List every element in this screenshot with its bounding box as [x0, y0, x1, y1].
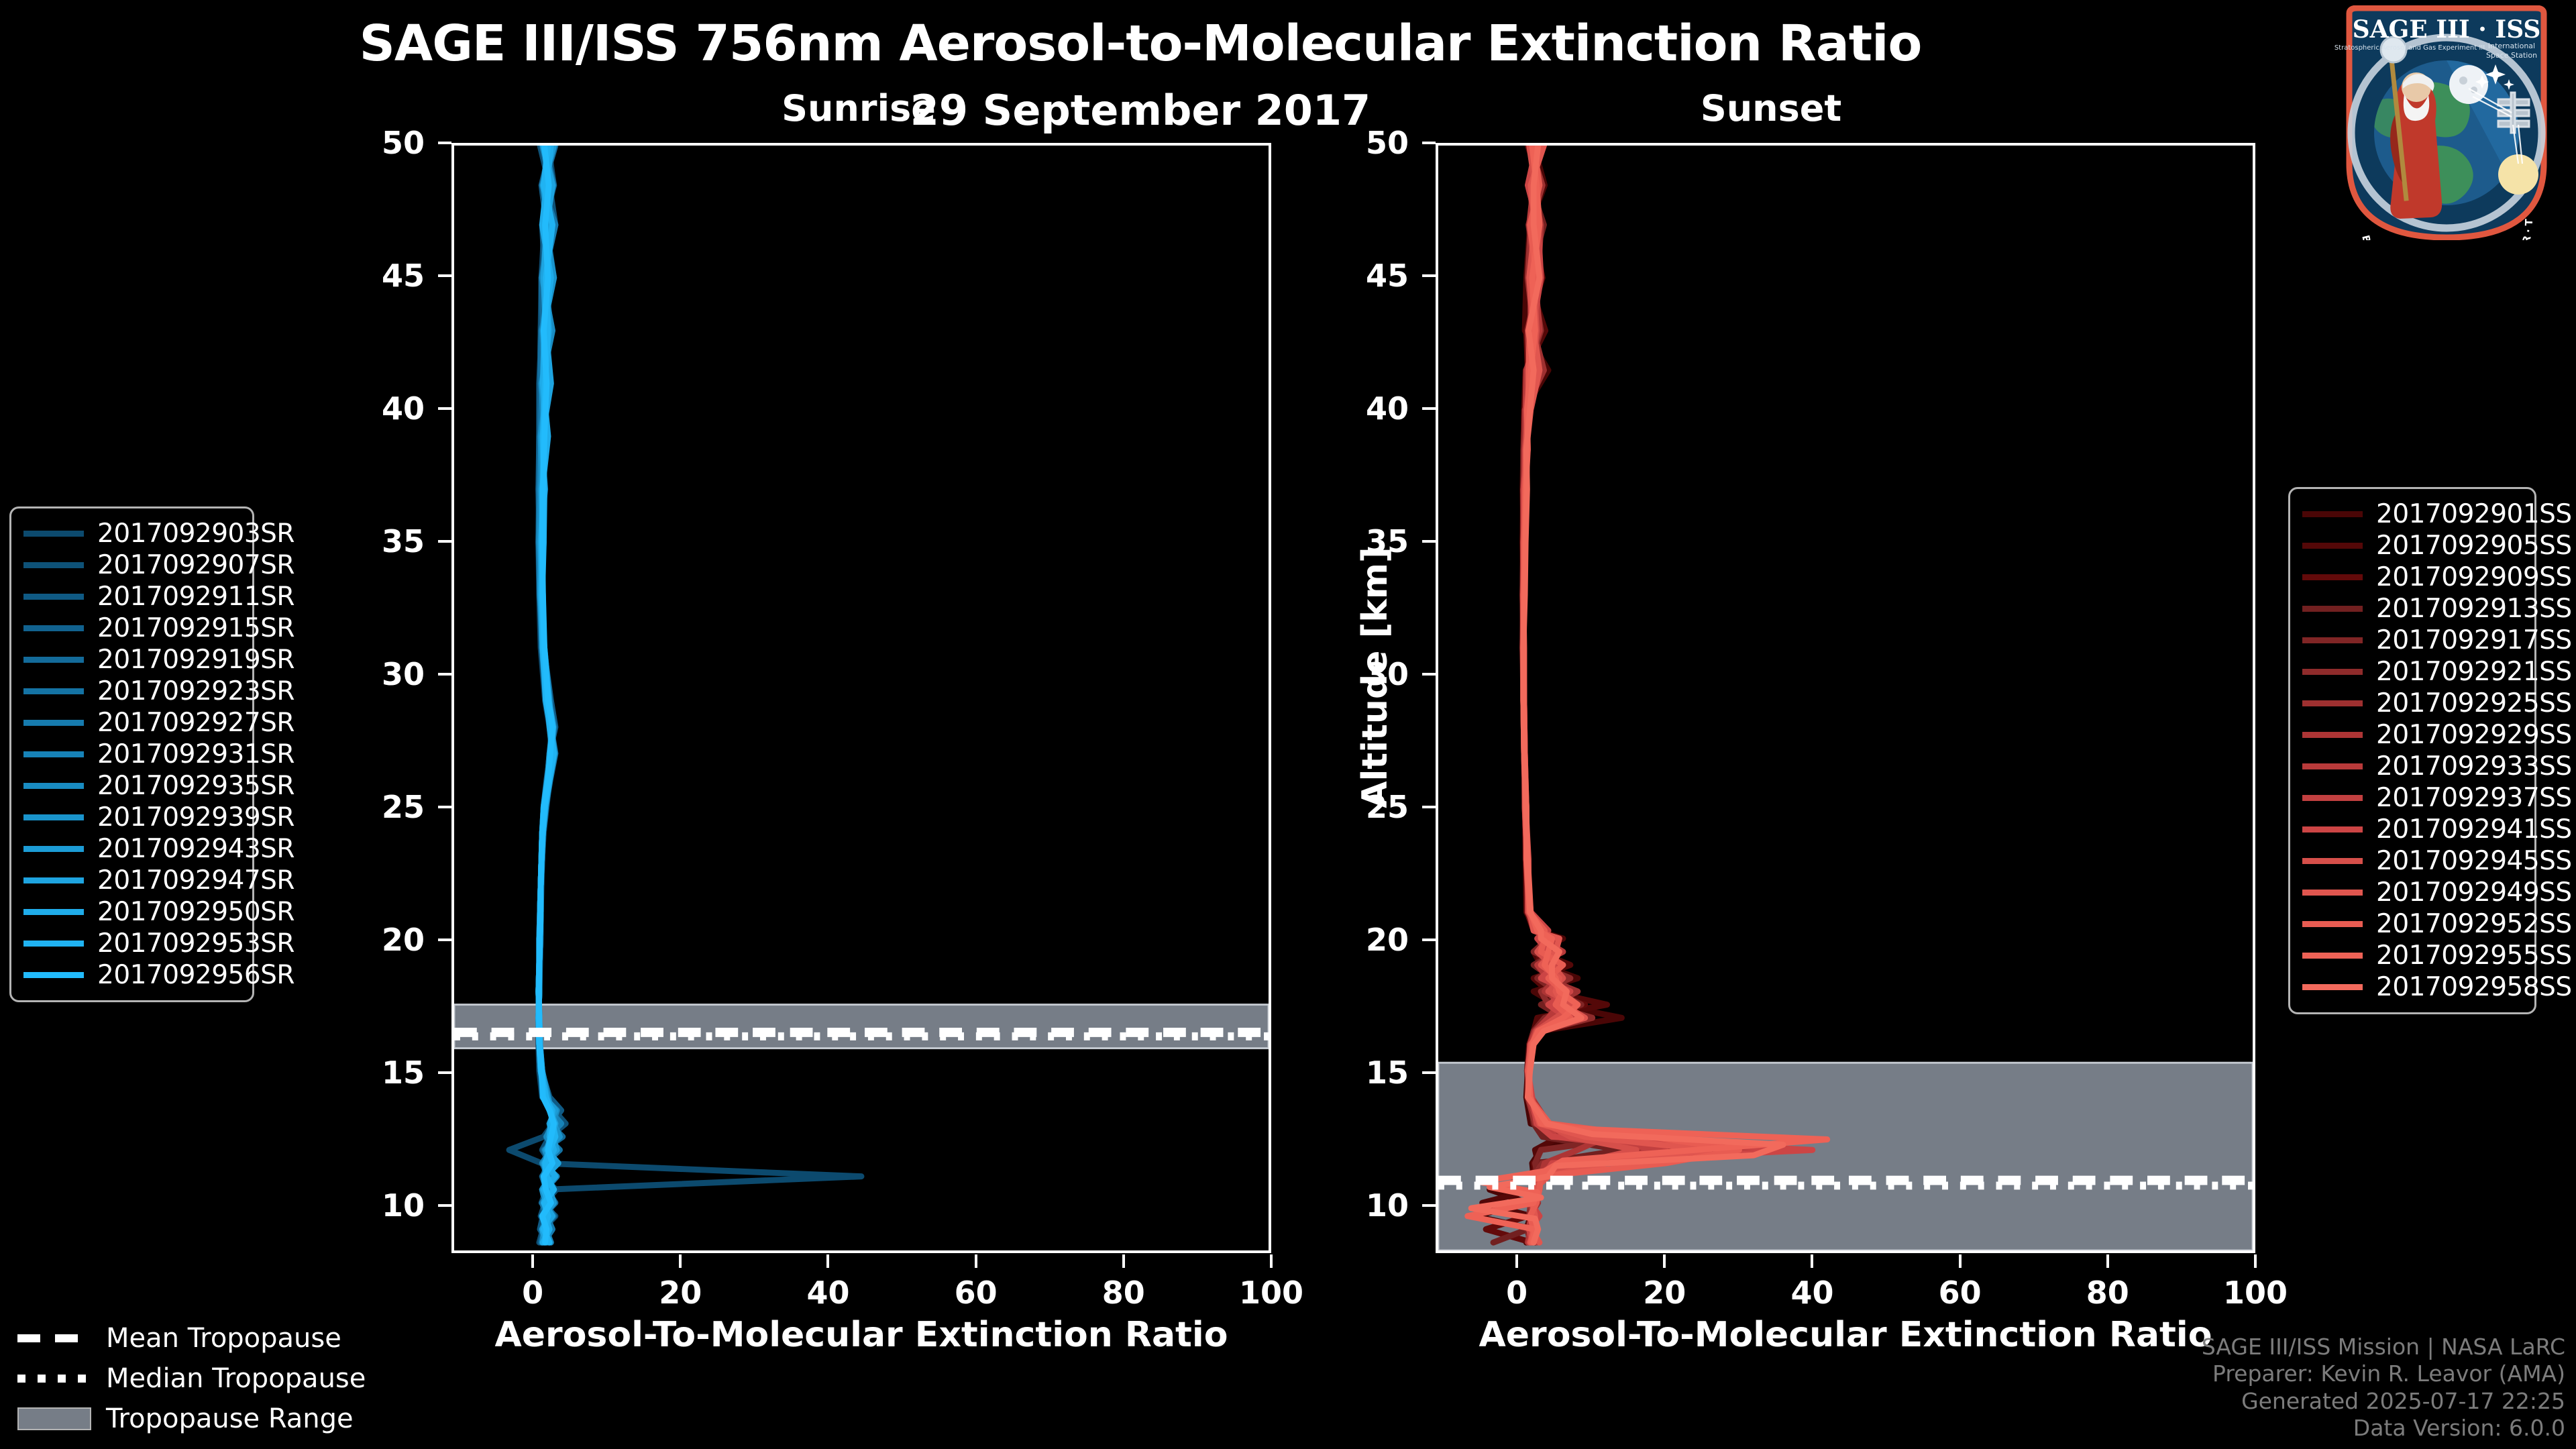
y-tick-mark — [1422, 274, 1436, 277]
legend-color-swatch — [23, 720, 84, 726]
credits-generated: Generated 2025-07-17 22:25 — [2202, 1388, 2565, 1415]
legend-item[interactable]: 2017092952SS — [2302, 908, 2522, 940]
legend-color-swatch — [2302, 984, 2363, 990]
legend-color-swatch — [23, 972, 84, 978]
mean-tropopause-label: Mean Tropopause — [106, 1323, 341, 1354]
x-tick-label: 20 — [1643, 1275, 1686, 1311]
legend-item[interactable]: 2017092917SS — [2302, 625, 2522, 656]
x-tick-label: 40 — [1790, 1275, 1833, 1311]
legend-item-label: 2017092929SS — [2376, 720, 2572, 750]
x-tick-label: 80 — [1102, 1275, 1145, 1311]
legend-item-label: 2017092950SR — [97, 897, 294, 927]
x-tick-mark — [975, 1254, 977, 1268]
legend-color-swatch — [23, 783, 84, 789]
legend-item[interactable]: 2017092913SS — [2302, 593, 2522, 625]
x-tick-label: 20 — [659, 1275, 702, 1311]
legend-item-label: 2017092947SR — [97, 865, 294, 896]
x-tick-mark — [1270, 1254, 1273, 1268]
legend-item[interactable]: 2017092943SR — [23, 833, 240, 865]
legend-item-label: 2017092907SR — [97, 550, 294, 580]
y-tick-label: 50 — [1315, 125, 1409, 161]
y-tick-mark — [1422, 1204, 1436, 1207]
credits-block: SAGE III/ISS Mission | NASA LaRC Prepare… — [2202, 1334, 2565, 1442]
legend-item[interactable]: 2017092929SS — [2302, 719, 2522, 751]
legend-color-swatch — [2302, 669, 2363, 675]
tropopause-range-label: Tropopause Range — [106, 1403, 354, 1434]
y-tick-label: 10 — [1315, 1187, 1409, 1224]
x-tick-mark — [2106, 1254, 2109, 1268]
legend-item-label: 2017092945SS — [2376, 846, 2572, 876]
legend-color-swatch — [23, 877, 84, 883]
dashed-line-icon — [17, 1330, 91, 1347]
y-tick-mark — [1422, 540, 1436, 543]
legend-color-swatch — [2302, 890, 2363, 896]
legend-color-swatch — [23, 909, 84, 915]
sage-iii-iss-mission-patch-logo: SAGE III · ISS Stratospheric Aerosol and… — [2329, 5, 2564, 240]
legend-item[interactable]: 2017092935SR — [23, 770, 240, 802]
legend-item[interactable]: 2017092949SS — [2302, 877, 2522, 908]
x-tick-mark — [1515, 1254, 1518, 1268]
x-tick-label: 60 — [1939, 1275, 1982, 1311]
legend-item-label: 2017092935SR — [97, 771, 294, 801]
legend-color-swatch — [2302, 921, 2363, 927]
y-tick-mark — [438, 142, 451, 144]
x-tick-mark — [531, 1254, 534, 1268]
y-tick-mark — [1422, 407, 1436, 410]
legend-color-swatch — [2302, 574, 2363, 580]
y-tick-label: 10 — [331, 1187, 425, 1224]
y-tick-mark — [438, 274, 451, 277]
legend-item[interactable]: 2017092933SS — [2302, 751, 2522, 782]
legend-sunset: 2017092901SS2017092905SS2017092909SS2017… — [2288, 487, 2536, 1014]
legend-item[interactable]: 2017092956SR — [23, 959, 240, 991]
legend-item[interactable]: 2017092903SR — [23, 518, 240, 549]
legend-item-label: 2017092943SR — [97, 834, 294, 864]
y-tick-mark — [438, 1204, 451, 1207]
legend-sunrise: 2017092903SR2017092907SR2017092911SR2017… — [9, 506, 254, 1002]
legend-item-label: 2017092939SR — [97, 802, 294, 833]
patch-subtitle-right-line2: Space Station — [2486, 51, 2537, 60]
y-tick-mark — [1422, 673, 1436, 676]
legend-color-swatch — [23, 657, 84, 663]
legend-item[interactable]: 2017092937SS — [2302, 782, 2522, 814]
y-tick-label: 40 — [1315, 390, 1409, 427]
legend-item-label: 2017092903SR — [97, 519, 294, 549]
x-axis-title-sunrise: Aerosol-To-Molecular Extinction Ratio — [451, 1315, 1271, 1355]
sunset-plot-canvas — [1438, 146, 2253, 1250]
plot-sunrise — [451, 143, 1271, 1253]
legend-item[interactable]: 2017092927SR — [23, 707, 240, 739]
x-tick-mark — [1663, 1254, 1666, 1268]
legend-item-label: 2017092901SS — [2376, 499, 2572, 529]
legend-item[interactable]: 2017092955SS — [2302, 940, 2522, 971]
legend-item-label: 2017092911SR — [97, 582, 294, 612]
y-tick-mark — [438, 540, 451, 543]
y-axis-title-sunset: Altitude [km] — [1355, 510, 1395, 845]
legend-item-label: 2017092905SS — [2376, 531, 2572, 561]
x-tick-label: 100 — [2223, 1275, 2288, 1311]
y-tick-mark — [1422, 938, 1436, 941]
x-tick-mark — [2254, 1254, 2257, 1268]
tropopause-range-band — [454, 1005, 1269, 1049]
legend-item-label: 2017092931SR — [97, 739, 294, 769]
patch-subtitle-right-line1: International — [2488, 42, 2535, 50]
legend-item-label: 2017092921SS — [2376, 657, 2572, 687]
legend-item-mean-tropopause: Mean Tropopause — [17, 1318, 366, 1358]
legend-item-label: 2017092937SS — [2376, 783, 2572, 813]
credits-mission: SAGE III/ISS Mission | NASA LaRC — [2202, 1334, 2565, 1361]
legend-color-swatch — [23, 846, 84, 852]
legend-item-label: 2017092933SS — [2376, 751, 2572, 782]
tropopause-legend: Mean Tropopause Median Tropopause Tropop… — [17, 1318, 366, 1439]
sunrise-plot-canvas — [454, 146, 1269, 1250]
legend-item-label: 2017092913SS — [2376, 594, 2572, 624]
y-tick-label: 15 — [1315, 1055, 1409, 1091]
legend-color-swatch — [2302, 858, 2363, 864]
legend-item[interactable]: 2017092919SR — [23, 644, 240, 676]
y-tick-mark — [438, 1071, 451, 1074]
legend-color-swatch — [2302, 543, 2363, 549]
legend-item-label: 2017092915SR — [97, 613, 294, 643]
legend-color-swatch — [23, 625, 84, 631]
dotted-line-icon — [17, 1370, 91, 1387]
shaded-patch-icon — [17, 1410, 91, 1428]
y-tick-mark — [1422, 142, 1436, 144]
legend-color-swatch — [2302, 637, 2363, 643]
x-tick-mark — [1811, 1254, 1813, 1268]
legend-color-swatch — [2302, 700, 2363, 706]
y-tick-mark — [438, 673, 451, 676]
panel-title-sunrise: Sunrise — [671, 87, 1046, 129]
x-tick-label: 0 — [522, 1275, 543, 1311]
legend-color-swatch — [2302, 732, 2363, 738]
x-tick-label: 40 — [806, 1275, 849, 1311]
legend-color-swatch — [23, 688, 84, 694]
credits-preparer: Preparer: Kevin R. Leavor (AMA) — [2202, 1360, 2565, 1388]
legend-item[interactable]: 2017092921SS — [2302, 656, 2522, 688]
patch-subtitle-left: Stratospheric Aerosol and Gas Experiment… — [2334, 44, 2485, 52]
legend-item-label: 2017092925SS — [2376, 688, 2572, 718]
legend-item[interactable]: 2017092950SR — [23, 896, 240, 928]
legend-color-swatch — [2302, 953, 2363, 959]
legend-item[interactable]: 2017092941SS — [2302, 814, 2522, 845]
legend-color-swatch — [23, 594, 84, 600]
legend-item[interactable]: 2017092909SS — [2302, 561, 2522, 593]
legend-item-label: 2017092927SR — [97, 708, 294, 738]
legend-color-swatch — [23, 814, 84, 820]
x-tick-mark — [1122, 1254, 1125, 1268]
credits-data-version: Data Version: 6.0.0 — [2202, 1415, 2565, 1442]
legend-item-label: 2017092941SS — [2376, 814, 2572, 845]
x-tick-mark — [826, 1254, 829, 1268]
legend-color-swatch — [23, 941, 84, 947]
x-tick-label: 60 — [955, 1275, 998, 1311]
x-tick-label: 80 — [2086, 1275, 2129, 1311]
y-tick-label: 20 — [331, 922, 425, 958]
legend-color-swatch — [23, 531, 84, 537]
legend-item[interactable]: 2017092907SR — [23, 549, 240, 581]
legend-color-swatch — [2302, 795, 2363, 801]
y-tick-label: 45 — [1315, 258, 1409, 294]
legend-item-median-tropopause: Median Tropopause — [17, 1358, 366, 1399]
legend-color-swatch — [2302, 511, 2363, 517]
legend-color-swatch — [2302, 826, 2363, 833]
legend-item[interactable]: 2017092923SR — [23, 676, 240, 707]
legend-item[interactable]: 2017092905SS — [2302, 530, 2522, 561]
legend-item[interactable]: 2017092939SR — [23, 802, 240, 833]
legend-item[interactable]: 2017092958SS — [2302, 971, 2522, 1003]
legend-item-label: 2017092958SS — [2376, 972, 2572, 1002]
page-title: SAGE III/ISS 756nm Aerosol-to-Molecular … — [0, 15, 2281, 72]
legend-item-tropopause-range: Tropopause Range — [17, 1399, 366, 1439]
y-tick-label: 25 — [331, 789, 425, 825]
legend-item-label: 2017092956SR — [97, 960, 294, 990]
x-tick-label: 100 — [1239, 1275, 1303, 1311]
legend-item[interactable]: 2017092911SR — [23, 581, 240, 612]
legend-item[interactable]: 2017092947SR — [23, 865, 240, 896]
legend-item-label: 2017092917SS — [2376, 625, 2572, 655]
legend-item[interactable]: 2017092901SS — [2302, 498, 2522, 530]
legend-item-label: 2017092909SS — [2376, 562, 2572, 592]
y-tick-label: 45 — [331, 258, 425, 294]
y-tick-mark — [438, 938, 451, 941]
data-series-line — [509, 146, 861, 1242]
legend-color-swatch — [23, 562, 84, 568]
legend-item[interactable]: 2017092953SR — [23, 928, 240, 959]
legend-item[interactable]: 2017092945SS — [2302, 845, 2522, 877]
legend-color-swatch — [23, 751, 84, 757]
y-tick-mark — [438, 806, 451, 808]
y-tick-label: 15 — [331, 1055, 425, 1091]
legend-color-swatch — [2302, 606, 2363, 612]
y-tick-label: 40 — [331, 390, 425, 427]
median-tropopause-label: Median Tropopause — [106, 1363, 366, 1394]
x-tick-mark — [679, 1254, 682, 1268]
y-tick-label: 30 — [331, 656, 425, 692]
legend-item-label: 2017092955SS — [2376, 941, 2572, 971]
y-tick-label: 50 — [331, 125, 425, 161]
plot-sunset — [1436, 143, 2255, 1253]
y-tick-mark — [438, 407, 451, 410]
x-tick-mark — [1959, 1254, 1962, 1268]
legend-item[interactable]: 2017092931SR — [23, 739, 240, 770]
legend-item-label: 2017092949SS — [2376, 877, 2572, 908]
legend-item-label: 2017092919SR — [97, 645, 294, 675]
y-tick-label: 35 — [331, 523, 425, 559]
legend-item-label: 2017092952SS — [2376, 909, 2572, 939]
y-tick-mark — [1422, 806, 1436, 808]
patch-title: SAGE III · ISS — [2353, 15, 2541, 44]
legend-item[interactable]: 2017092925SS — [2302, 688, 2522, 719]
chart-page: SAGE III/ISS 756nm Aerosol-to-Molecular … — [0, 0, 2576, 1449]
legend-item-label: 2017092953SR — [97, 928, 294, 959]
x-axis-title-sunset: Aerosol-To-Molecular Extinction Ratio — [1436, 1315, 2255, 1355]
x-tick-label: 0 — [1506, 1275, 1527, 1311]
y-tick-label: 20 — [1315, 922, 1409, 958]
y-tick-mark — [1422, 1071, 1436, 1074]
panel-title-sunset: Sunset — [1583, 87, 1959, 129]
legend-color-swatch — [2302, 763, 2363, 769]
legend-item-label: 2017092923SR — [97, 676, 294, 706]
legend-item[interactable]: 2017092915SR — [23, 612, 240, 644]
